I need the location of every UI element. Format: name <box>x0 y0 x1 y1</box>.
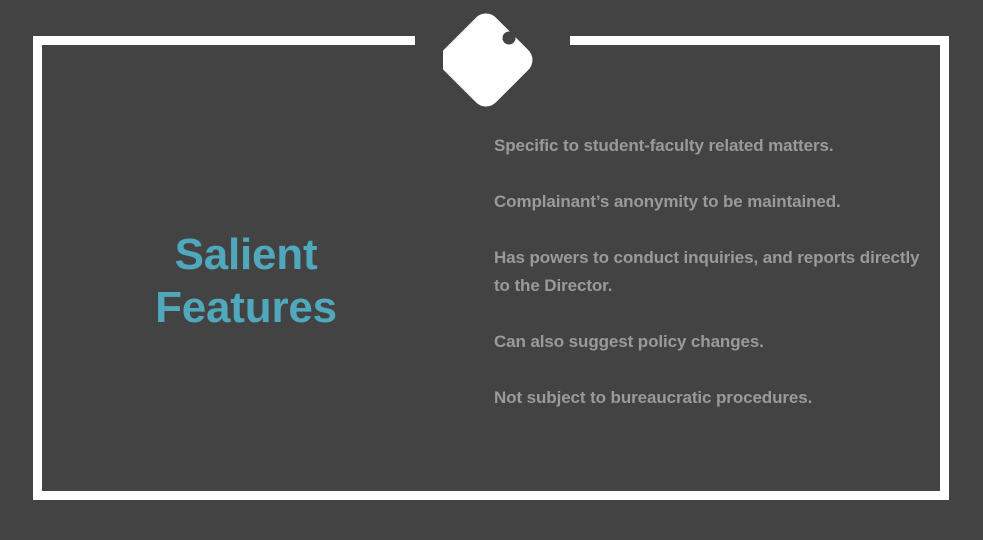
list-item: Has powers to conduct inquiries, and rep… <box>494 244 924 300</box>
list-item: Can also suggest policy changes. <box>494 328 924 356</box>
list-item: Specific to student-faculty related matt… <box>494 132 924 160</box>
frame-border-bottom <box>33 491 949 500</box>
frame-border-right <box>940 36 949 500</box>
slide-canvas: Salient Features Specific to student-fac… <box>0 0 983 540</box>
frame-border-left <box>33 36 42 500</box>
feature-list: Specific to student-faculty related matt… <box>494 132 924 412</box>
page-title: Salient Features <box>60 228 432 334</box>
frame-border-top-left <box>33 36 415 45</box>
page-title-line-2: Features <box>60 281 432 334</box>
list-item: Complainant’s anonymity to be maintained… <box>494 188 924 216</box>
tag-hole-icon <box>503 32 516 45</box>
page-title-line-1: Salient <box>60 228 432 281</box>
list-item: Not subject to bureaucratic procedures. <box>494 384 924 412</box>
tag-icon <box>443 10 543 110</box>
frame-border-top-right <box>570 36 949 45</box>
